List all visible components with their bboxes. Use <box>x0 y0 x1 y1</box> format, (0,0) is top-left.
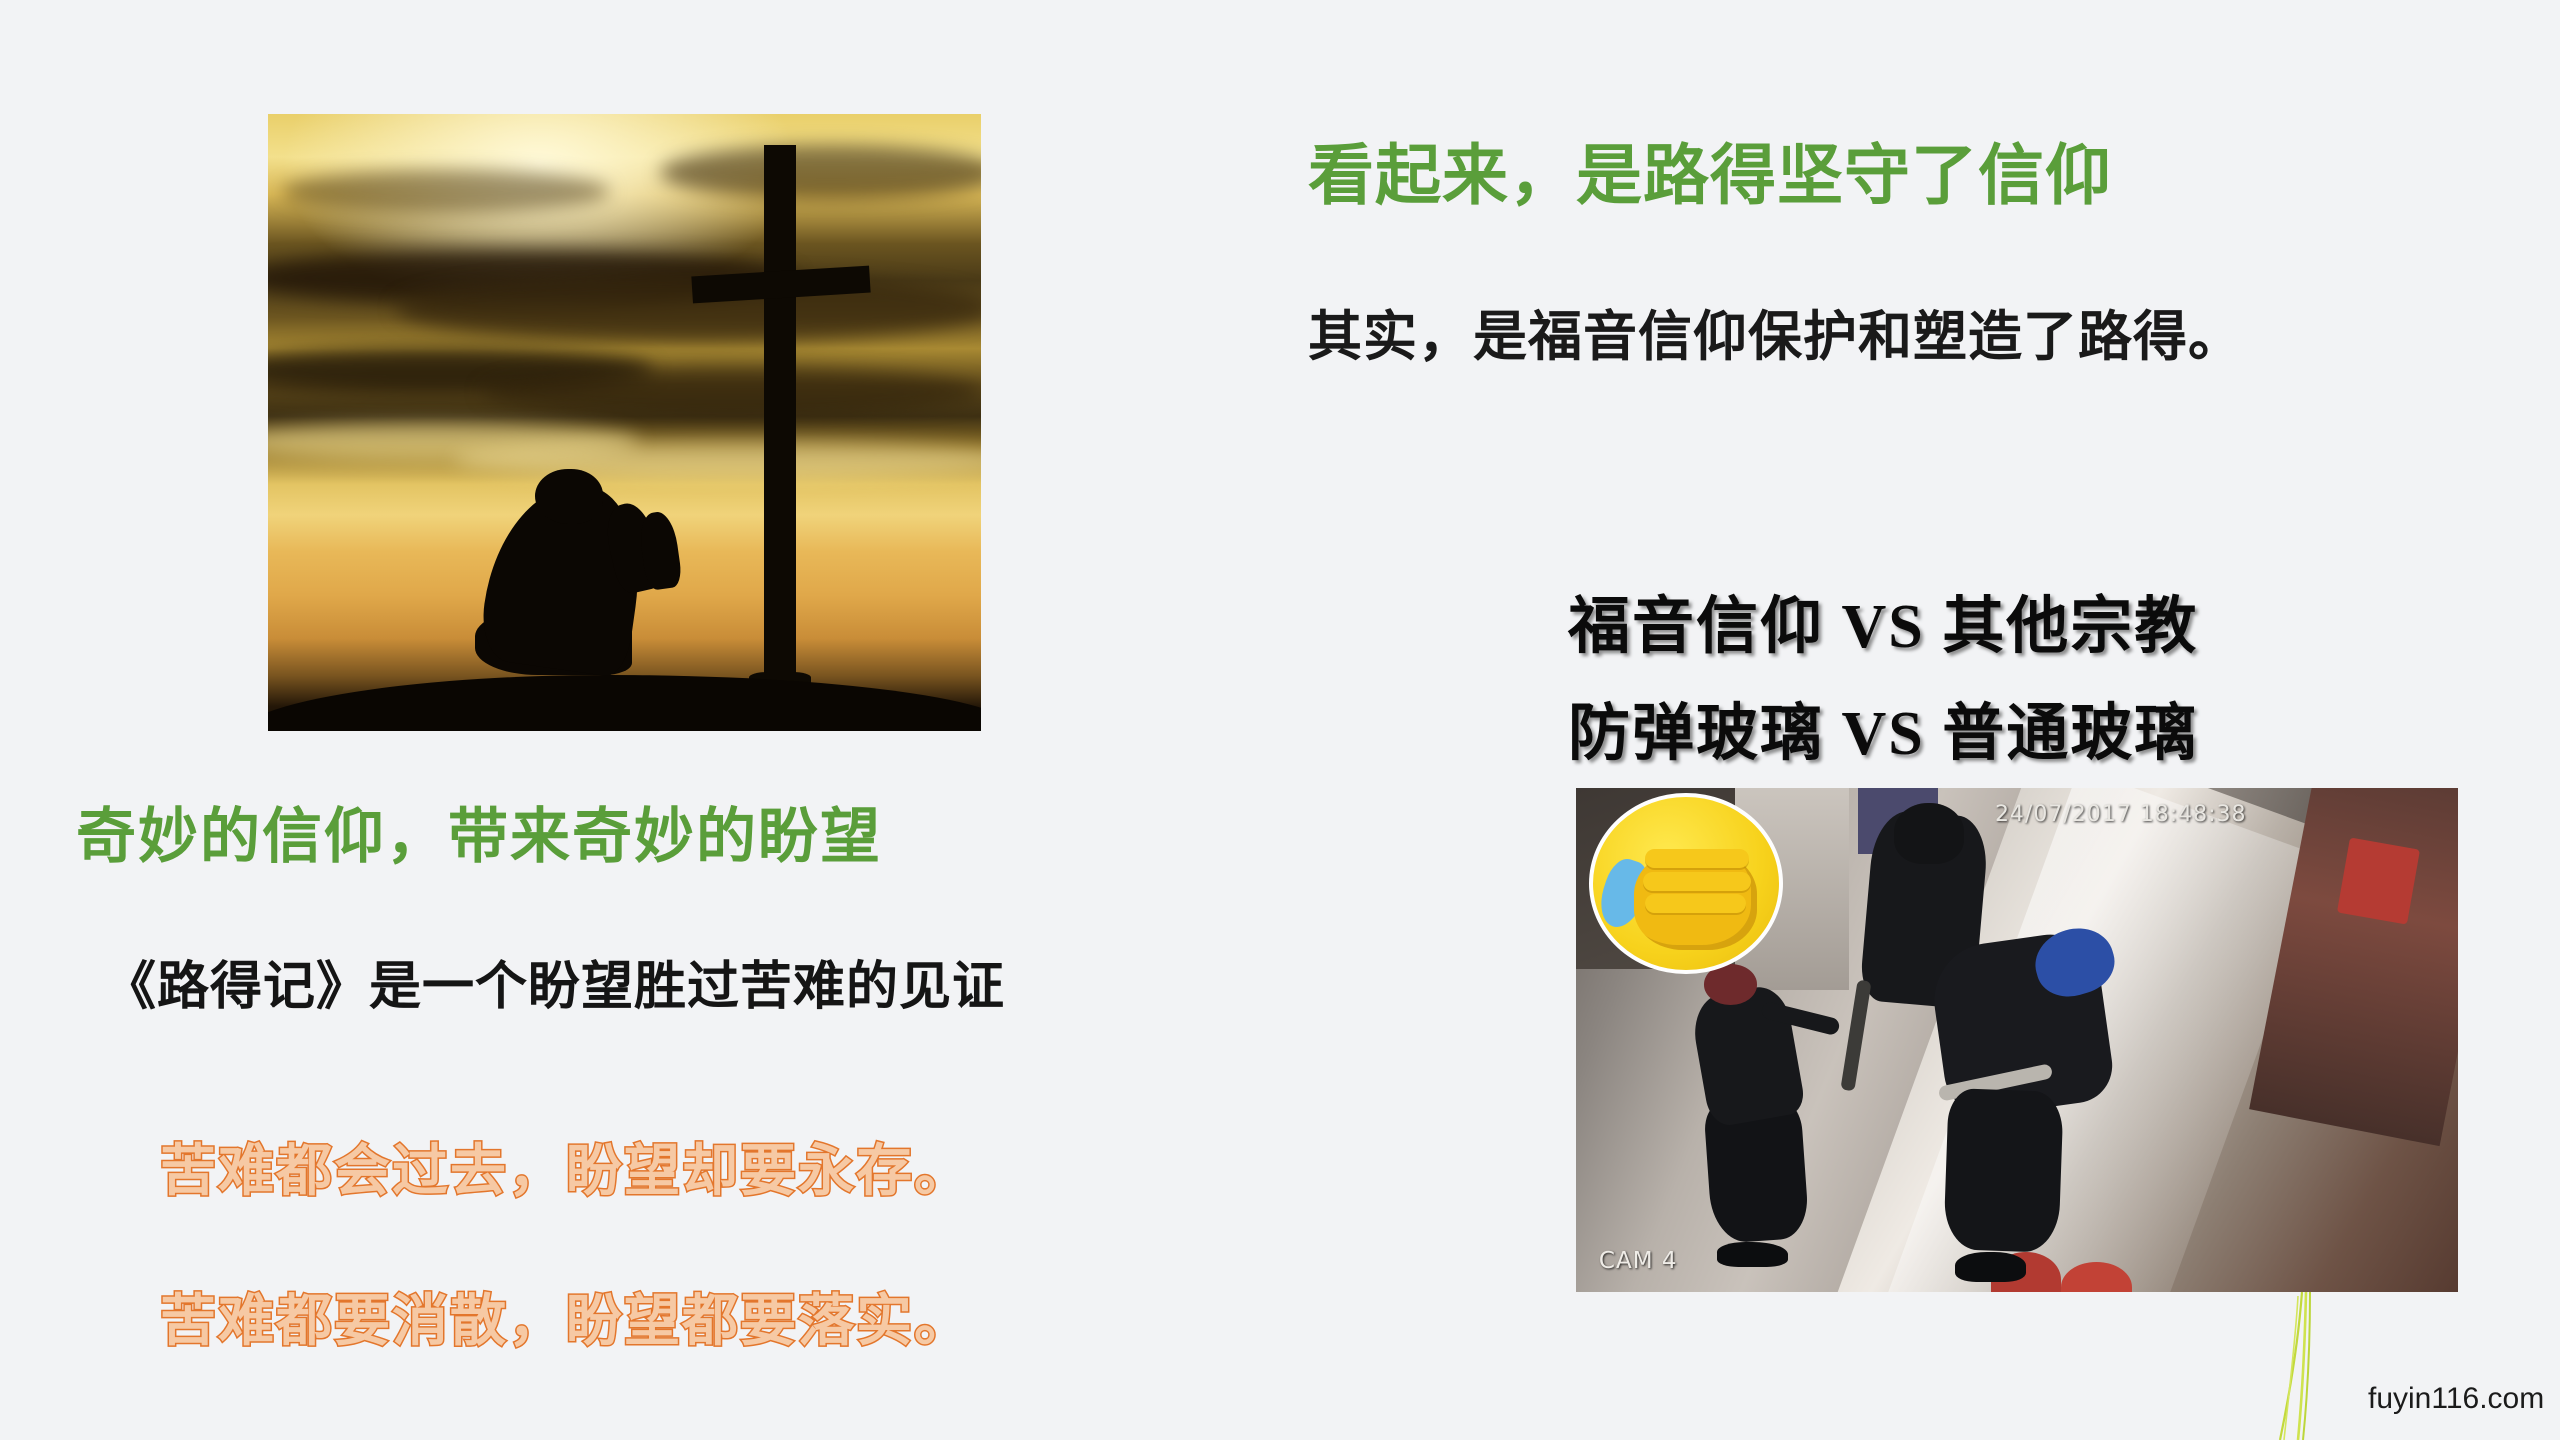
person-left-shoe <box>1717 1242 1788 1267</box>
cctv-timestamp: 24/07/2017 18:48:38 <box>1995 802 2247 827</box>
emoji-finger <box>1643 872 1751 891</box>
slide-canvas: 看起来，是路得坚守了信仰 其实，是福音信仰保护和塑造了路得。 福音信仰 VS 其… <box>0 0 2560 1440</box>
cloud-band <box>282 170 610 213</box>
cloud-band <box>482 367 981 416</box>
left-green-heading: 奇妙的信仰，带来奇妙的盼望 <box>76 788 882 875</box>
right-green-heading: 看起来，是路得坚守了信仰 <box>1308 122 2112 218</box>
person-right-shoe <box>1955 1252 2026 1282</box>
person-center-head <box>1894 803 1965 863</box>
site-watermark: fuyin116.com <box>2368 1382 2544 1416</box>
emoji-finger <box>1645 894 1745 913</box>
grass-blades-decoration <box>2272 1292 2342 1440</box>
orange-statement-1: 苦难都会过去，盼望却要永存。 <box>160 1126 972 1207</box>
facepalm-emoji-icon <box>1589 793 1783 974</box>
emoji-finger <box>1645 849 1749 868</box>
comparison-line-faith: 福音信仰 VS 其他宗教 <box>1568 575 2198 665</box>
comparison-line-glass: 防弹玻璃 VS 普通玻璃 <box>1568 682 2198 772</box>
cross-icon <box>764 145 797 688</box>
cctv-robbery-image: 24/07/2017 18:48:38 CAM 4 <box>1576 788 2458 1292</box>
sunset-cross-image <box>268 114 981 731</box>
right-black-statement: 其实，是福音信仰保护和塑造了路得。 <box>1308 292 2243 371</box>
orange-statement-2: 苦难都要消散，盼望都要落实。 <box>160 1276 972 1357</box>
cctv-camera-label: CAM 4 <box>1599 1248 1678 1274</box>
left-black-statement: 《路得记》是一个盼望胜过苦难的见证 <box>104 944 1005 1019</box>
cloud-band <box>396 274 981 342</box>
kneeling-figure-head <box>535 469 603 525</box>
red-object <box>2337 838 2420 925</box>
person-right-legs <box>1944 1088 2064 1253</box>
